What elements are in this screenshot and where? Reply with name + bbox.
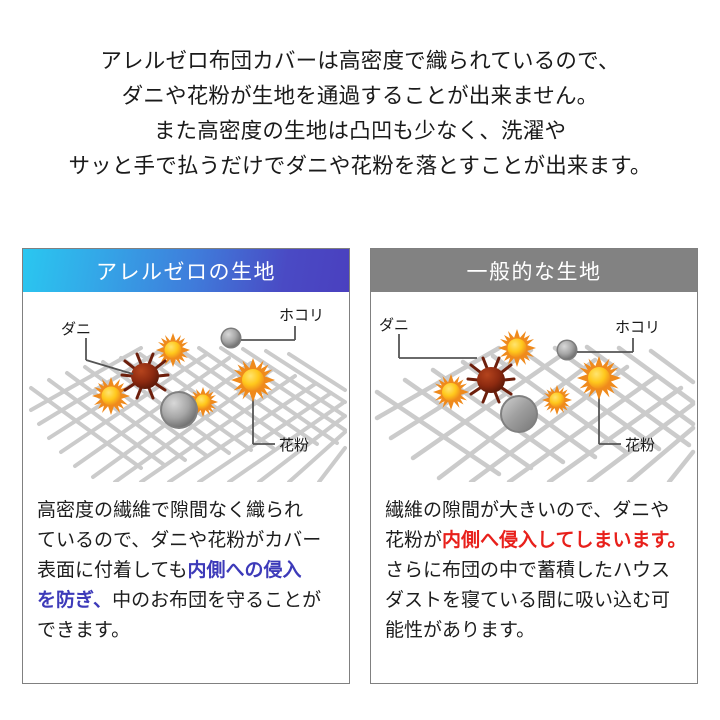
comparison-panels: アレルゼロの生地 bbox=[22, 248, 698, 684]
house-dust-icon bbox=[160, 391, 198, 429]
intro-line-3: また高密度の生地は凸凹も少なく、洗濯や bbox=[0, 114, 720, 149]
panel-general-diagram: ダニ ホコリ 花粉 bbox=[371, 292, 697, 482]
intro-paragraph: アレルゼロ布団カバーは高密度で織られているので、 ダニや花粉が生地を通過すること… bbox=[0, 44, 720, 184]
panel-general-title: 一般的な生地 bbox=[467, 256, 602, 286]
pollen-icon bbox=[542, 385, 572, 415]
infographic-page: アレルゼロ布団カバーは高密度で織られているので、 ダニや花粉が生地を通過すること… bbox=[0, 0, 720, 720]
body-line: を防ぎ、中のお布団を守ることが bbox=[37, 586, 335, 616]
body-line: 繊維の隙間が大きいので、ダニや bbox=[385, 496, 683, 526]
panel-general-body: 繊維の隙間が大きいので、ダニや 花粉が内側へ侵入してしまいます。 さらに布団の中… bbox=[371, 482, 697, 683]
body-line: 花粉が内側へ侵入してしまいます。 bbox=[385, 526, 683, 556]
pollen-icon bbox=[156, 333, 190, 367]
body-line: 高密度の繊維で隙間なく織られ bbox=[37, 496, 335, 526]
pollen-icon bbox=[231, 358, 275, 402]
dust-icon bbox=[221, 328, 242, 349]
pollen-icon bbox=[577, 356, 621, 400]
intro-line-1: アレルゼロ布団カバーは高密度で織られているので、 bbox=[0, 44, 720, 79]
panel-allerzero-header: アレルゼロの生地 bbox=[23, 249, 349, 292]
body-line: 能性があります。 bbox=[385, 616, 683, 646]
house-dust-icon bbox=[500, 395, 538, 433]
body-line: 表面に付着しても内側への侵入 bbox=[37, 556, 335, 586]
mite-label: ダニ bbox=[379, 317, 409, 334]
mite-label: ダニ bbox=[61, 321, 91, 338]
pollen-label: 花粉 bbox=[279, 437, 309, 454]
body-line: できます。 bbox=[37, 616, 335, 646]
highlight-text: 内側への侵入 bbox=[187, 560, 301, 581]
intro-line-2: ダニや花粉が生地を通過することが出来ません。 bbox=[0, 79, 720, 114]
panel-allerzero: アレルゼロの生地 bbox=[22, 248, 350, 684]
dust-icon bbox=[557, 340, 578, 361]
body-line: ているので、ダニや花粉がカバー bbox=[37, 526, 335, 556]
panel-general-header: 一般的な生地 bbox=[371, 249, 697, 292]
highlight-text: を防ぎ、 bbox=[37, 590, 112, 611]
highlight-text: 内側へ侵入してしまいます。 bbox=[442, 530, 687, 551]
fine-mesh-illustration: ダニ ホコリ 花粉 bbox=[23, 292, 349, 482]
body-line: さらに布団の中で蓄積したハウス bbox=[385, 556, 683, 586]
coarse-mesh-illustration: ダニ ホコリ 花粉 bbox=[371, 292, 697, 482]
dust-label: ホコリ bbox=[279, 307, 324, 324]
intro-line-4: サッと手で払うだけでダニや花粉を落とすことが出来ます。 bbox=[0, 149, 720, 184]
dust-label: ホコリ bbox=[615, 319, 660, 336]
panel-allerzero-diagram: ダニ ホコリ 花粉 bbox=[23, 292, 349, 482]
panel-allerzero-title: アレルゼロの生地 bbox=[96, 256, 276, 286]
panel-allerzero-body: 高密度の繊維で隙間なく織られ ているので、ダニや花粉がカバー 表面に付着しても内… bbox=[23, 482, 349, 683]
body-line: ダストを寝ている間に吸い込む可 bbox=[385, 586, 683, 616]
panel-general: 一般的な生地 bbox=[370, 248, 698, 684]
pollen-label: 花粉 bbox=[625, 437, 655, 454]
